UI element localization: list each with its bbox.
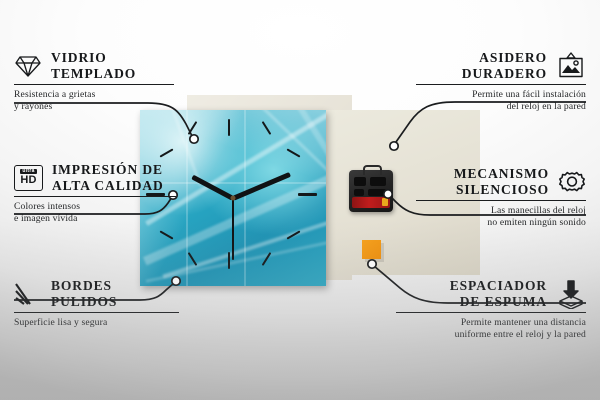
diamond-icon <box>14 53 42 79</box>
press-down-pad-icon <box>556 279 586 309</box>
feature-header: VIDRIO TEMPLADO <box>14 50 174 81</box>
diagonal-lines-icon <box>14 282 42 306</box>
divider <box>416 84 586 85</box>
feature-mecanismo-silencioso: MECANISMO SILENCIOSO Las manecillas del … <box>416 166 586 230</box>
divider <box>396 312 586 313</box>
feature-espaciador-de-espuma: ESPACIADOR DE ESPUMA Permite mantener un… <box>396 278 586 342</box>
ultra-hd-icon: ultra HD <box>14 165 43 191</box>
divider <box>14 312 179 313</box>
gear-icon <box>558 168 586 196</box>
infographic-canvas: VIDRIO TEMPLADO Resistencia a grietas y … <box>0 0 600 400</box>
feature-header: ultra HD IMPRESIÓN DE ALTA CALIDAD <box>14 162 176 193</box>
feature-title: MECANISMO SILENCIOSO <box>454 166 549 197</box>
feature-body: Colores intensos e imagen vívida <box>14 201 176 226</box>
feature-vidrio-templado: VIDRIO TEMPLADO Resistencia a grietas y … <box>14 50 174 114</box>
hanging-frame-icon <box>556 52 586 80</box>
feature-header: MECANISMO SILENCIOSO <box>416 166 586 197</box>
divider <box>14 84 174 85</box>
feature-body: Superficie lisa y segura <box>14 317 179 329</box>
feature-header: ASIDERO DURADERO <box>416 50 586 81</box>
connector-endpoint <box>390 142 398 150</box>
feature-title: ASIDERO DURADERO <box>462 50 547 81</box>
feature-header: ESPACIADOR DE ESPUMA <box>396 278 586 309</box>
connector-endpoint <box>384 190 392 198</box>
feature-bordes-pulidos: BORDES PULIDOS Superficie lisa y segura <box>14 278 179 329</box>
feature-title: IMPRESIÓN DE ALTA CALIDAD <box>52 162 164 193</box>
feature-body: Permite una fácil instalación del reloj … <box>416 89 586 114</box>
feature-header: BORDES PULIDOS <box>14 278 179 309</box>
feature-title: BORDES PULIDOS <box>51 278 117 309</box>
feature-asidero-duradero: ASIDERO DURADERO Permite una fácil insta… <box>416 50 586 114</box>
feature-body: Resistencia a grietas y rayones <box>14 89 174 114</box>
connector-endpoint <box>190 135 198 143</box>
divider <box>14 196 176 197</box>
feature-body: Las manecillas del reloj no emiten ningú… <box>416 205 586 230</box>
feature-body: Permite mantener una distancia uniforme … <box>396 317 586 342</box>
feature-title: VIDRIO TEMPLADO <box>51 50 136 81</box>
divider <box>416 200 586 201</box>
feature-impresion-alta-calidad: ultra HD IMPRESIÓN DE ALTA CALIDAD Color… <box>14 162 176 226</box>
feature-title: ESPACIADOR DE ESPUMA <box>450 278 547 309</box>
connector-endpoint <box>368 260 376 268</box>
